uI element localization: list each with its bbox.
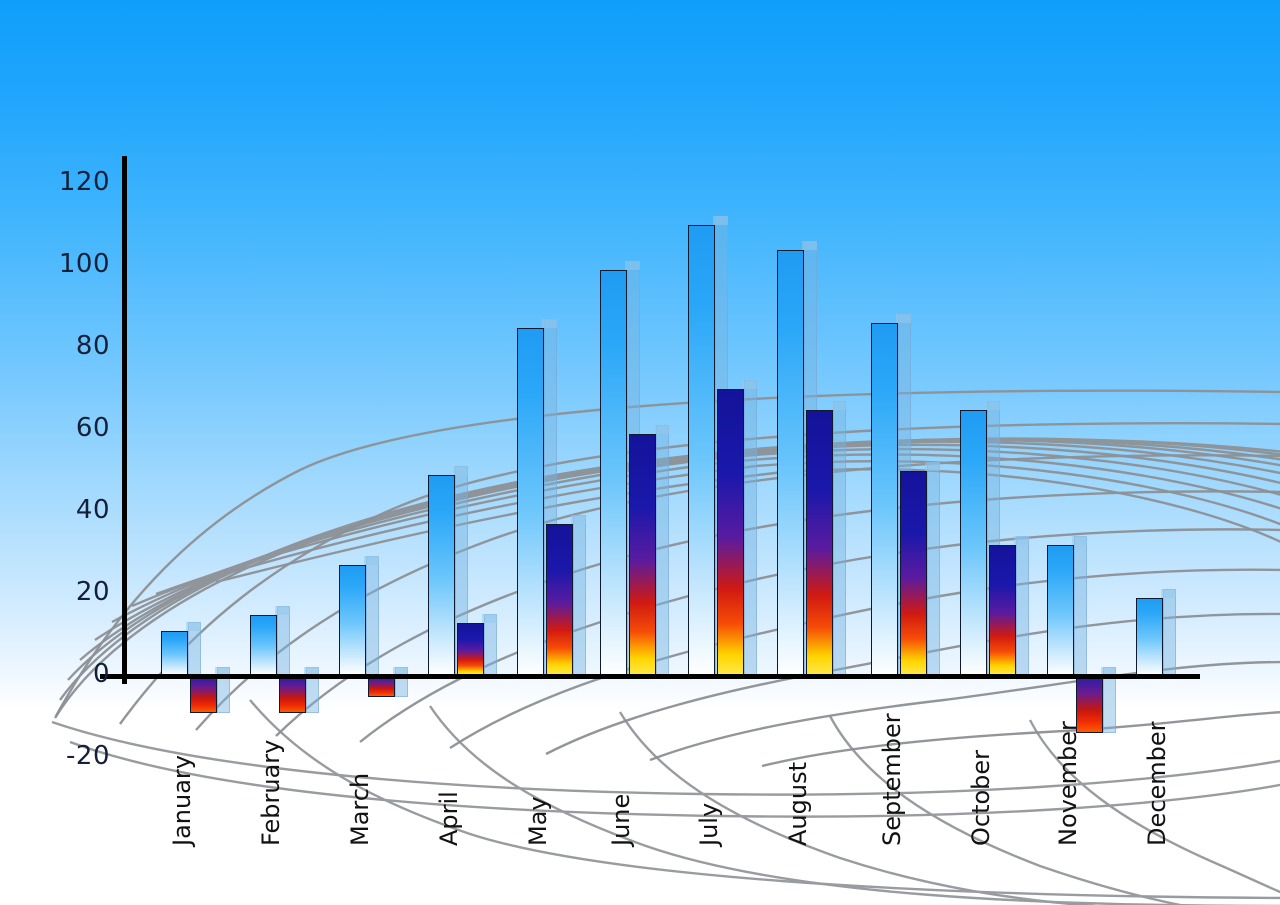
category-tick-november: November — [1056, 721, 1080, 846]
category-tick-june: June — [609, 794, 633, 846]
category-tick-january: January — [170, 755, 194, 846]
chart-canvas: 120100806040200-20 JanuaryFebruaryMarchA… — [0, 0, 1280, 905]
category-tick-july: July — [697, 803, 721, 846]
category-tick-march: March — [348, 773, 372, 846]
category-tick-december: December — [1145, 722, 1169, 846]
category-tick-april: April — [437, 791, 461, 846]
category-tick-february: February — [259, 740, 283, 846]
category-axis-labels: JanuaryFebruaryMarchAprilMayJuneJulyAugu… — [0, 0, 1280, 905]
category-tick-september: September — [880, 713, 904, 846]
category-tick-may: May — [526, 796, 550, 846]
category-tick-august: August — [786, 762, 810, 846]
category-tick-october: October — [969, 750, 993, 846]
